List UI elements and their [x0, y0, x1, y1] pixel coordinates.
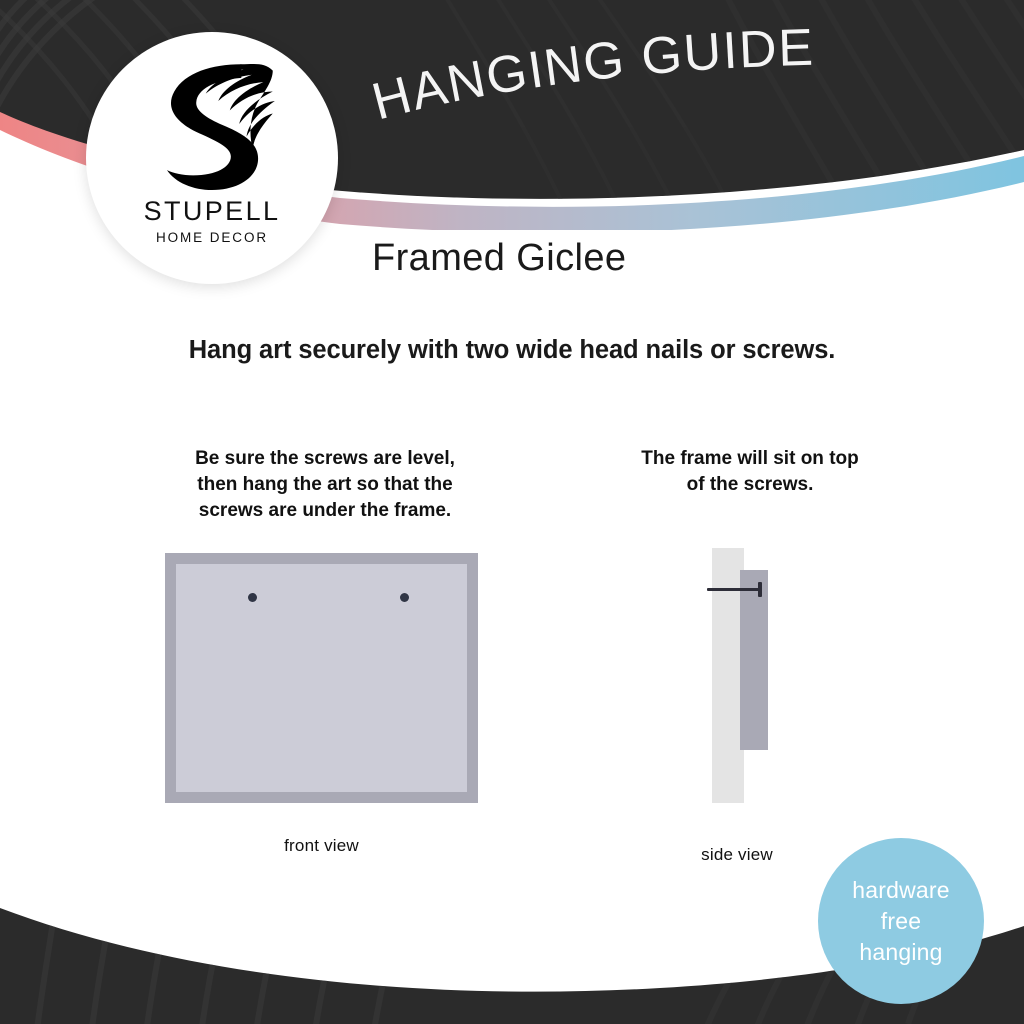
front-view-diagram: [165, 553, 478, 803]
screw-dot-right-icon: [400, 593, 409, 602]
side-view-caption-line-1: The frame will sit on top: [600, 446, 900, 472]
front-view-caption-line-1: Be sure the screws are level,: [165, 446, 485, 472]
nail-head-icon: [758, 582, 762, 597]
nail-shaft-icon: [707, 588, 761, 591]
front-view-caption: Be sure the screws are level, then hang …: [165, 446, 485, 524]
side-view-diagram: [690, 540, 820, 815]
side-view-label: side view: [672, 845, 802, 865]
side-view-caption: The frame will sit on top of the screws.: [600, 446, 900, 498]
screw-dot-left-icon: [248, 593, 257, 602]
front-view-art-area: [176, 564, 467, 792]
product-type-label: Framed Giclee: [372, 237, 626, 280]
main-instruction-text: Hang art securely with two wide head nai…: [0, 336, 1024, 365]
badge-line-2: free: [881, 906, 921, 937]
front-view-label: front view: [165, 836, 478, 856]
front-view-caption-line-2: then hang the art so that the: [165, 472, 485, 498]
logo-brand-name: STUPELL: [144, 196, 281, 227]
logo-brand-tagline: HOME DECOR: [156, 230, 268, 245]
side-view-frame: [740, 570, 768, 750]
brand-logo-badge: STUPELL HOME DECOR: [86, 32, 338, 284]
badge-line-1: hardware: [852, 875, 950, 906]
badge-line-3: hanging: [859, 937, 942, 968]
hanging-guide-page: STUPELL HOME DECOR HANGING GUIDE Framed …: [0, 0, 1024, 1024]
front-view-caption-line-3: screws are under the frame.: [165, 498, 485, 524]
side-view-caption-line-2: of the screws.: [600, 472, 900, 498]
stupell-swoosh-s-logo-icon: [149, 58, 275, 190]
hardware-free-badge: hardware free hanging: [818, 838, 984, 1004]
page-title: HANGING GUIDE: [372, 42, 892, 132]
